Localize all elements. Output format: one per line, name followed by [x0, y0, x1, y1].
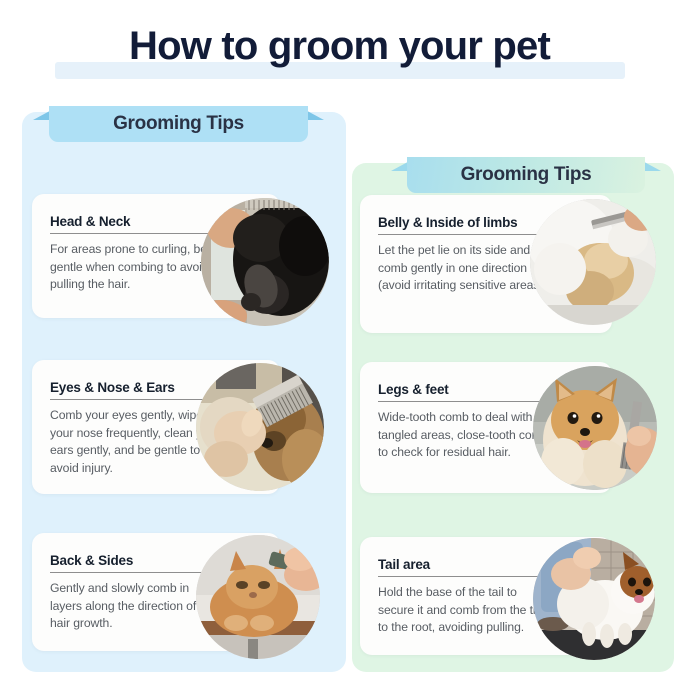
photo-yorkshire-terrier-face-combing: [196, 363, 324, 491]
banner-left-label: Grooming Tips: [113, 113, 244, 135]
tip-card-text: Wide-tooth comb to deal with tangled are…: [378, 409, 556, 462]
tip-card-heading: Legs & feet: [378, 382, 556, 397]
tip-card-body: Tail area Hold the base of the tail to s…: [378, 557, 550, 637]
banner-left: Grooming Tips: [33, 106, 324, 142]
photo-white-pomeranian-tail-grooming: [533, 538, 655, 660]
page-title-area: How to groom your pet: [0, 22, 679, 70]
tip-card-text: For areas prone to curling, be gentle wh…: [50, 241, 218, 294]
heading-underline: [378, 234, 560, 235]
tip-card-body: Head & Neck For areas prone to curling, …: [50, 214, 218, 294]
tip-card-heading: Tail area: [378, 557, 550, 572]
heading-underline: [378, 576, 550, 577]
tip-card-body: Back & Sides Gently and slowly comb in l…: [50, 553, 218, 633]
banner-right-body: Grooming Tips: [407, 157, 645, 193]
tip-card-heading: Eyes & Nose & Ears: [50, 380, 226, 395]
photo-black-poodle-head-combing: [201, 198, 329, 326]
tip-card-heading: Belly & Inside of limbs: [378, 215, 560, 230]
heading-underline: [378, 401, 556, 402]
page-title: How to groom your pet: [0, 22, 679, 70]
photo-orange-cat-back-brushing: [196, 535, 320, 659]
tip-card-body: Legs & feet Wide-tooth comb to deal with…: [378, 382, 556, 462]
banner-right-label: Grooming Tips: [461, 164, 592, 186]
tip-card-text: Hold the base of the tail to secure it a…: [378, 584, 550, 637]
photo-pomeranian-legs-combing: [533, 366, 657, 490]
tip-card-heading: Back & Sides: [50, 553, 218, 568]
heading-underline: [50, 399, 226, 400]
banner-left-body: Grooming Tips: [49, 106, 308, 142]
heading-underline: [50, 233, 218, 234]
tip-card-text: Gently and slowly comb in layers along t…: [50, 580, 218, 633]
tip-card-heading: Head & Neck: [50, 214, 218, 229]
banner-right: Grooming Tips: [391, 157, 661, 193]
photo-white-fluffy-pet-belly-combing: [530, 199, 656, 325]
heading-underline: [50, 572, 218, 573]
